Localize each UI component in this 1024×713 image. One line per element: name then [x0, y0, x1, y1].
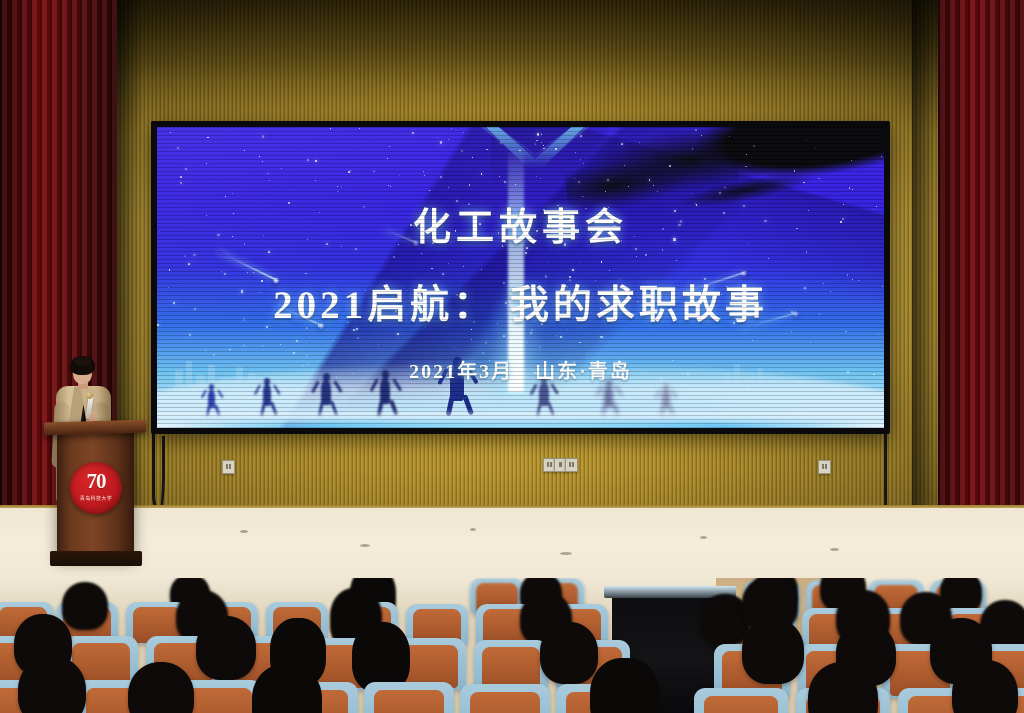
- audience-head: [540, 622, 598, 684]
- audience-head: [196, 616, 256, 680]
- microphone-head-icon: [86, 392, 93, 399]
- seat: [364, 682, 454, 713]
- curtain-shadow-right: [912, 0, 938, 550]
- slide-text-block: 化工故事会 2021启航： 我的求职故事 2021年3月 山东·青岛: [157, 127, 884, 428]
- slide-title: 化工故事会: [413, 196, 628, 251]
- emblem-institution-name: 青岛科技大学: [80, 495, 112, 502]
- speaker-hair-highlight: [74, 357, 91, 366]
- university-emblem: 70 青岛科技大学: [70, 462, 122, 514]
- audience-head: [590, 658, 660, 713]
- audience-head: [62, 582, 108, 630]
- lectern-base: [50, 551, 142, 566]
- emblem-anniversary-number: 70: [87, 471, 106, 492]
- stage-curtain-right: [938, 0, 1024, 550]
- audience-head: [18, 656, 86, 713]
- wall-outlet-icon: [222, 460, 235, 474]
- auditorium-photo: 化工故事会 2021启航： 我的求职故事 2021年3月 山东·青岛: [0, 0, 1024, 713]
- wall-outlet-icon: [565, 458, 578, 472]
- led-display-surface: 化工故事会 2021启航： 我的求职故事 2021年3月 山东·青岛: [157, 127, 884, 428]
- seat: [460, 684, 550, 713]
- audience-head: [742, 618, 804, 684]
- audience-seating-area: [0, 578, 1024, 713]
- seat: [694, 688, 788, 713]
- slide-subtitle: 2021启航： 我的求职故事: [273, 274, 768, 330]
- slide-date-location: 2021年3月 山东·青岛: [409, 355, 632, 384]
- wall-outlet-icon: [818, 460, 831, 474]
- led-display-panel: 化工故事会 2021启航： 我的求职故事 2021年3月 山东·青岛: [151, 121, 890, 434]
